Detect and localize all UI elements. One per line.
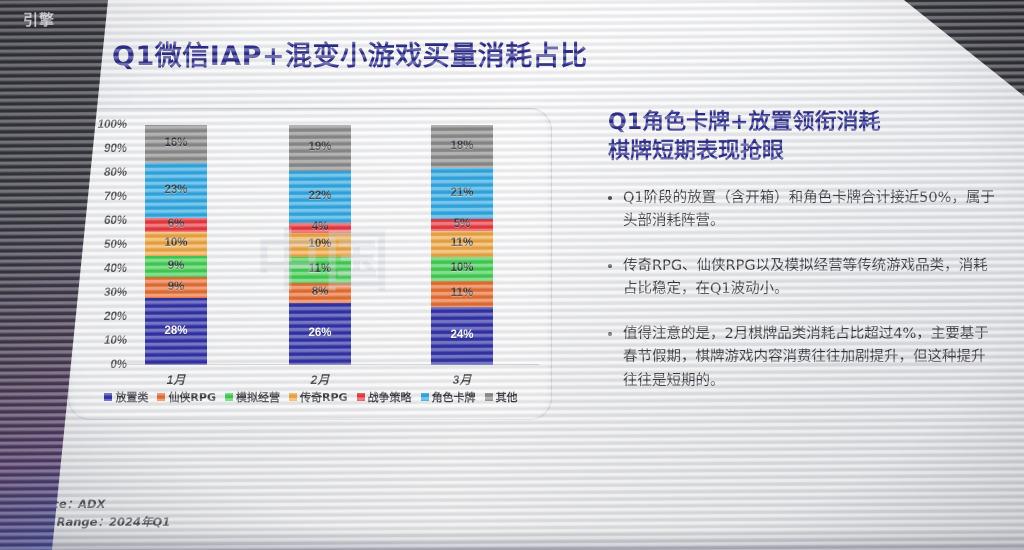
chart-legend: 放置类仙侠RPG模拟经营传奇RPG战争策略角色卡牌其他	[83, 389, 539, 405]
bar-segment: 4%	[289, 223, 351, 233]
legend-swatch	[157, 393, 165, 401]
bar-segment: 10%	[431, 257, 493, 281]
bullet-dot-icon	[608, 332, 612, 336]
legend-label: 仙侠RPG	[168, 389, 216, 405]
bar-segment: 24%	[431, 307, 493, 365]
x-axis-label: 2月	[289, 371, 351, 388]
bar-segment: 9%	[145, 277, 207, 298]
brand-logo: 引擎	[0, 0, 78, 38]
insights-heading-line-1: Q1角色卡牌+放置领衔消耗	[608, 108, 998, 137]
bullet-item: 传奇RPG、仙侠RPG以及模拟经营等传统游戏品类，消耗占比稳定，在Q1波动小。	[608, 255, 998, 302]
slide-header: 二 Q1微信IAP+混变小游戏买量消耗占比	[58, 34, 588, 73]
insights-panel: Q1角色卡牌+放置领衔消耗 棋牌短期表现抢眼 Q1阶段的放置（含开箱）和角色卡牌…	[608, 108, 998, 414]
bar-segment: 23%	[145, 163, 207, 218]
y-axis-tick: 0%	[73, 359, 127, 371]
legend-item[interactable]: 模拟经营	[225, 389, 280, 405]
legend-swatch	[104, 393, 112, 401]
y-axis-tick: 30%	[73, 287, 127, 299]
insights-bullet-list: Q1阶段的放置（含开箱）和角色卡牌合计接近50%，属于头部消耗阵营。传奇RPG、…	[608, 187, 998, 393]
bar-segment: 18%	[431, 125, 493, 168]
legend-item[interactable]: 仙侠RPG	[157, 389, 216, 405]
bar-segment: 5%	[431, 219, 493, 231]
legend-swatch	[289, 393, 297, 401]
bar-segment: 10%	[289, 233, 351, 257]
legend-item[interactable]: 传奇RPG	[289, 389, 348, 405]
legend-label: 战争策略	[368, 389, 412, 405]
legend-label: 角色卡牌	[432, 389, 476, 405]
legend-swatch	[357, 393, 365, 401]
stacked-bar[interactable]: 18%21%5%11%10%11%24%	[431, 125, 493, 365]
bullet-text: 值得注意的是，2月棋牌品类消耗占比超过4%，主要基于春节假期，棋牌游戏内容消费往…	[623, 323, 998, 393]
bar-segment: 6%	[145, 218, 207, 232]
bar-segment: 26%	[289, 303, 351, 365]
bar-segment: 16%	[145, 125, 207, 163]
legend-swatch	[225, 393, 233, 401]
x-axis-label: 3月	[431, 371, 493, 388]
legend-item[interactable]: 放置类	[104, 389, 148, 405]
bar-segment: 21%	[431, 168, 493, 218]
bar-segment: 11%	[431, 281, 493, 307]
legend-label: 其他	[496, 389, 518, 405]
legend-item[interactable]: 其他	[485, 389, 518, 405]
legend-item[interactable]: 角色卡牌	[421, 389, 476, 405]
bar-segment: 11%	[289, 257, 351, 283]
bar-segment: 19%	[289, 125, 351, 171]
page-title: Q1微信IAP+混变小游戏买量消耗占比	[112, 34, 588, 73]
legend-swatch	[421, 393, 429, 401]
bullet-item: 值得注意的是，2月棋牌品类消耗占比超过4%，主要基于春节假期，棋牌游戏内容消费往…	[608, 323, 998, 393]
bar-segment: 22%	[289, 171, 351, 224]
bar-segment: 11%	[431, 231, 493, 257]
chart-card: 100%90%80%70%60%50%40%30%20%10%0% 16%23%…	[68, 108, 552, 420]
bar-segment: 8%	[289, 283, 351, 302]
bullet-text: Q1阶段的放置（含开箱）和角色卡牌合计接近50%，属于头部消耗阵营。	[623, 187, 998, 234]
slide-content: 中国 二 Q1微信IAP+混变小游戏买量消耗占比 100%90%80%70%60…	[0, 0, 1024, 550]
screen-bezel-bottom	[0, 528, 1024, 550]
insights-heading-line-2: 棋牌短期表现抢眼	[608, 137, 998, 166]
bullet-item: Q1阶段的放置（含开箱）和角色卡牌合计接近50%，属于头部消耗阵营。	[608, 187, 998, 234]
bar-segment: 9%	[145, 256, 207, 277]
insights-heading: Q1角色卡牌+放置领衔消耗 棋牌短期表现抢眼	[608, 108, 998, 167]
legend-label: 放置类	[115, 389, 148, 405]
chart-plot-area: 100%90%80%70%60%50%40%30%20%10%0% 16%23%…	[131, 125, 535, 365]
legend-label: 模拟经营	[236, 389, 280, 405]
bullet-dot-icon	[608, 196, 612, 200]
bar-segment: 10%	[145, 232, 207, 256]
bullet-dot-icon	[608, 264, 612, 268]
bar-segment: 28%	[145, 298, 207, 365]
y-axis-tick: 40%	[73, 263, 127, 275]
y-axis-tick: 20%	[73, 311, 127, 323]
y-axis-tick: 10%	[73, 335, 127, 347]
stacked-bar[interactable]: 19%22%4%10%11%8%26%	[289, 125, 351, 365]
stacked-bar[interactable]: 16%23%6%10%9%9%28%	[145, 125, 207, 365]
x-axis-label: 1月	[145, 371, 207, 388]
axis-baseline	[127, 364, 539, 365]
bullet-text: 传奇RPG、仙侠RPG以及模拟经营等传统游戏品类，消耗占比稳定，在Q1波动小。	[623, 255, 998, 302]
legend-swatch	[485, 393, 493, 401]
legend-label: 传奇RPG	[300, 389, 348, 405]
legend-item[interactable]: 战争策略	[357, 389, 412, 405]
